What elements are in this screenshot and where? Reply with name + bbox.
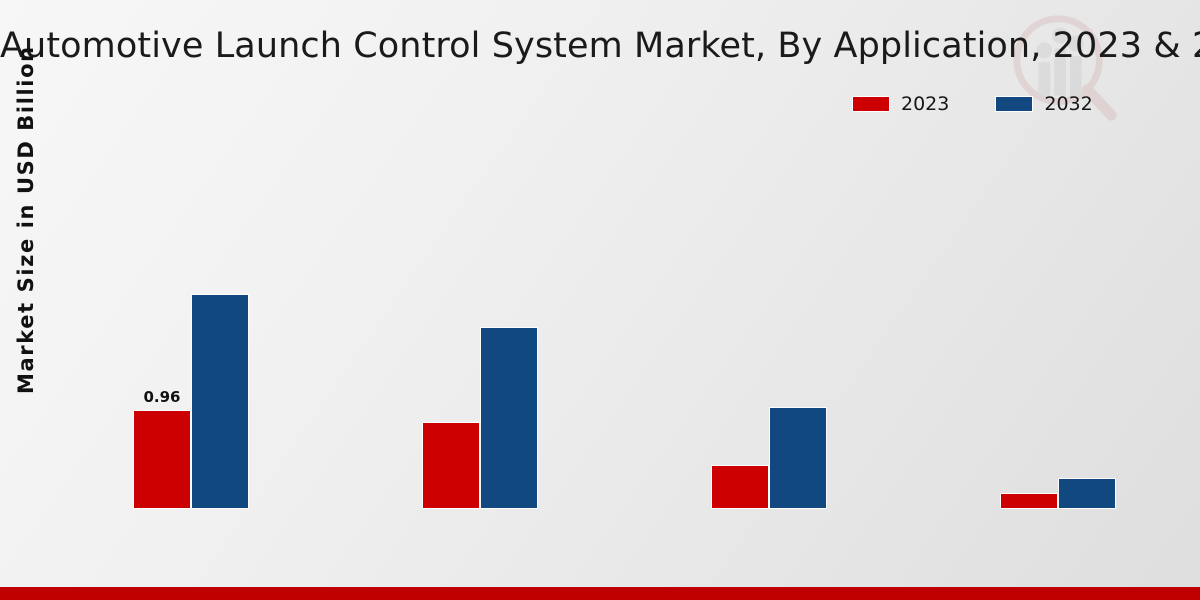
bar-2023-1[interactable]	[133, 410, 191, 509]
bar-group	[1000, 0, 1116, 509]
plot-area: 0.96 PerformanceVehiclesLuxuryVehiclesSp…	[80, 140, 1180, 509]
legend-label-2023: 2023	[901, 93, 949, 115]
bar-2032-2[interactable]	[480, 327, 538, 509]
legend-item-2023[interactable]: 2023	[852, 93, 949, 115]
bar-2032-3[interactable]	[769, 407, 827, 509]
bar-group	[422, 0, 538, 509]
bar-group	[711, 0, 827, 509]
bar-group: 0.96	[133, 0, 249, 509]
y-axis-title: Market Size in USD Billion	[14, 74, 38, 394]
legend-swatch-2023	[852, 96, 890, 112]
chart-canvas: Automotive Launch Control System Market,…	[0, 0, 1200, 600]
bar-2032-4[interactable]	[1058, 478, 1116, 509]
bar-2032-1[interactable]	[191, 294, 249, 509]
bar-2023-3[interactable]	[711, 465, 769, 509]
bar-value-label: 0.96	[133, 388, 191, 406]
bar-2023-4[interactable]	[1000, 493, 1058, 509]
footer-accent-bar	[0, 587, 1200, 600]
bar-2023-2[interactable]	[422, 422, 480, 509]
